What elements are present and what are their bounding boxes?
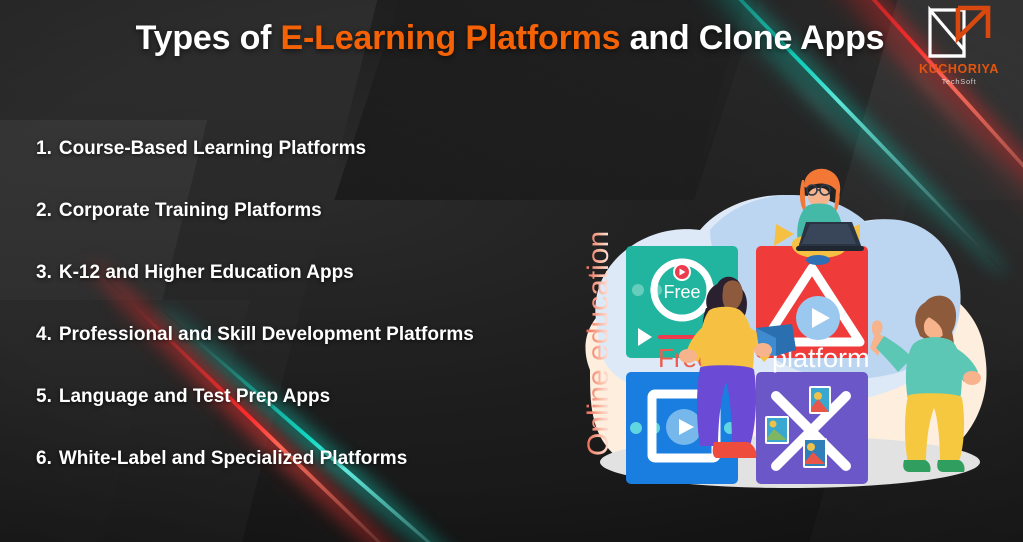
list-item-number: 6. <box>36 448 52 470</box>
kuchoriya-monogram-icon <box>924 4 994 60</box>
list-item-number: 5. <box>36 386 52 408</box>
elearning-illustration: Online education Free <box>560 150 1010 510</box>
list-item: 2. Corporate Training Platforms <box>36 200 596 262</box>
list-item-label: White-Label and Specialized Platforms <box>59 448 407 470</box>
tile-free-text: Free <box>663 282 700 302</box>
vertical-label-online-education: Online education <box>582 231 615 456</box>
list-item-number: 4. <box>36 324 52 346</box>
list-item: 5. Language and Test Prep Apps <box>36 386 596 448</box>
logo-company-name: KUCHORIYA <box>907 62 1011 76</box>
list-item: 1. Course-Based Learning Platforms <box>36 138 596 200</box>
list-item-label: Course-Based Learning Platforms <box>59 138 366 160</box>
list-item-number: 2. <box>36 200 52 222</box>
list-item-label: K-12 and Higher Education Apps <box>59 262 354 284</box>
thumbnail-card <box>765 416 789 444</box>
logo-subtitle: TechSoft <box>907 77 1011 86</box>
list-item-number: 1. <box>36 138 52 160</box>
page-title: Types of E-Learning Platforms and Clone … <box>110 18 910 58</box>
infographic-canvas: Types of E-Learning Platforms and Clone … <box>0 0 1023 542</box>
list-item-number: 3. <box>36 262 52 284</box>
brand-logo: KUCHORIYA TechSoft <box>907 4 1011 86</box>
title-part-1: Types of <box>136 19 281 57</box>
list-item-label: Professional and Skill Development Platf… <box>59 324 474 346</box>
title-part-2: and Clone Apps <box>620 19 884 57</box>
gallery-x-tile <box>756 372 868 484</box>
title-accent: E-Learning Platforms <box>281 19 621 57</box>
illustration-svg: Online education Free <box>560 150 1010 510</box>
thumbnail-card <box>809 386 831 414</box>
list-item-label: Language and Test Prep Apps <box>59 386 330 408</box>
list-item-label: Corporate Training Platforms <box>59 200 322 222</box>
list-item: 6. White-Label and Specialized Platforms <box>36 448 596 510</box>
list-item: 4. Professional and Skill Development Pl… <box>36 324 596 386</box>
list-item: 3. K-12 and Higher Education Apps <box>36 262 596 324</box>
platform-type-list: 1. Course-Based Learning Platforms 2. Co… <box>36 138 596 510</box>
thumbnail-card <box>803 438 827 468</box>
